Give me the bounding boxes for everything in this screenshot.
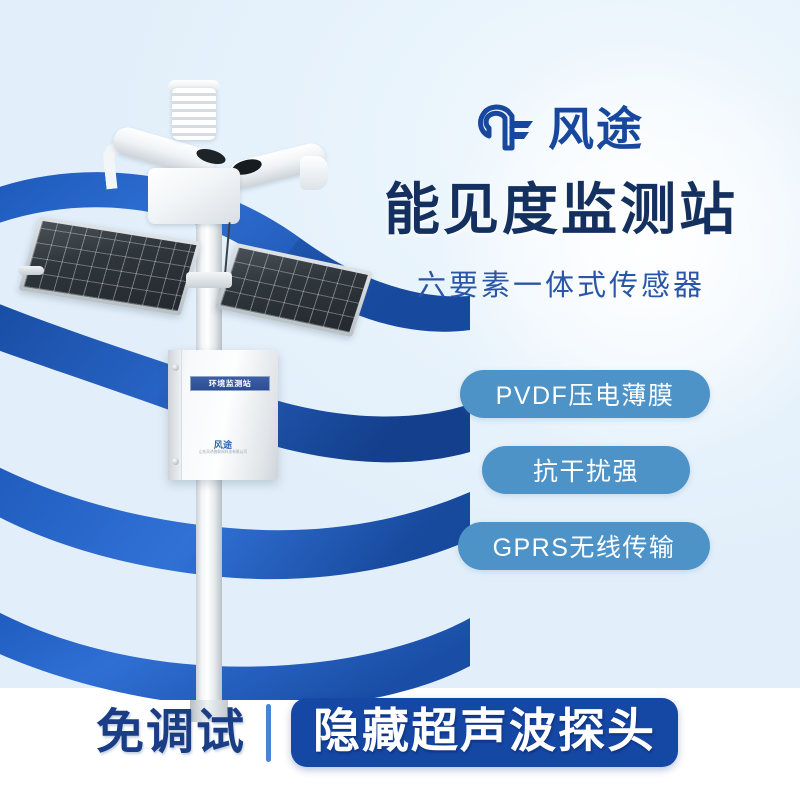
solar-panel-left <box>18 216 201 315</box>
cabinet-screw-top <box>172 364 179 371</box>
fengtu-g-wind-logo-icon <box>478 104 536 154</box>
bottom-highlight-label: 隐藏超声波探头 <box>313 704 656 757</box>
feature-pill-gprs[interactable]: GPRS无线传输 <box>458 522 710 570</box>
bottom-highlight-box: 隐藏超声波探头 <box>291 698 678 767</box>
solar-panel-strut <box>18 266 44 275</box>
equipment-cabinet: 环境监测站 风途 山东风途物联网科技有限公司 <box>168 350 278 480</box>
receiver-end-cap <box>300 156 328 190</box>
bottom-left-label: 免调试 <box>96 709 246 757</box>
brand-name: 风途 <box>548 106 644 152</box>
page-subtitle: 六要素一体式传感器 <box>332 272 790 301</box>
feature-pill-anti-interference[interactable]: 抗干扰强 <box>482 446 690 494</box>
bottom-banner: 免调试 隐藏超声波探头 <box>0 690 800 786</box>
panel-mount-bracket <box>186 272 232 288</box>
sensor-head-housing <box>148 168 240 224</box>
cabinet-company-text: 山东风途物联网科技有限公司 <box>168 450 278 456</box>
cabinet-nameplate-text: 环境监测站 <box>209 378 252 388</box>
weather-station-product-image: 环境监测站 风途 山东风途物联网科技有限公司 <box>0 60 420 700</box>
page-title: 能见度监测站 <box>332 182 790 238</box>
solar-cells <box>24 221 197 311</box>
product-poster: 环境监测站 风途 山东风途物联网科技有限公司 风途 能见度监测站 六要素一体式传… <box>0 0 800 800</box>
bottom-divider <box>266 704 271 762</box>
radiation-shield <box>172 88 216 140</box>
feature-pill-list: PVDF压电薄膜 抗干扰强 GPRS无线传输 <box>448 370 748 598</box>
cabinet-screw-bottom <box>172 458 179 465</box>
brand-lockup: 风途 <box>478 104 644 154</box>
cabinet-nameplate: 环境监测站 <box>190 376 270 391</box>
feature-pill-pvdf[interactable]: PVDF压电薄膜 <box>460 370 710 418</box>
